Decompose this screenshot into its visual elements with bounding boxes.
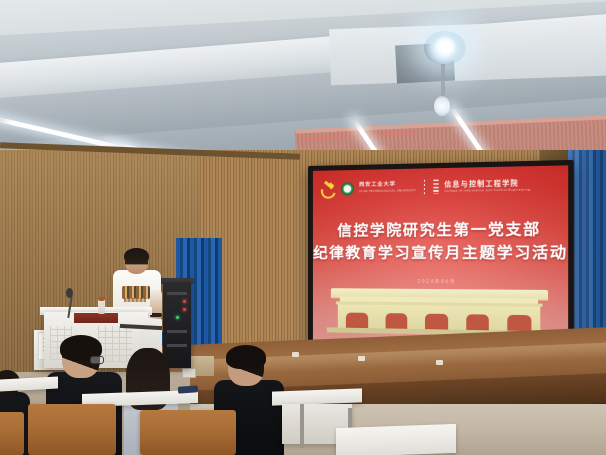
ceiling-panel-right bbox=[329, 19, 606, 85]
bottle-cap bbox=[99, 297, 104, 301]
stage-edge-light bbox=[292, 352, 299, 357]
university-name-en: XI'AN TECHNOLOGICAL UNIVERSITY bbox=[359, 189, 416, 193]
tshirt-graphic-sub bbox=[124, 298, 146, 302]
header-divider bbox=[424, 180, 425, 194]
college-name-en: College of Information and Control Engin… bbox=[444, 188, 530, 192]
college-name: 信息与控制工程学院 College of Information and Con… bbox=[444, 179, 530, 192]
water-bottle bbox=[98, 300, 105, 314]
smartphone bbox=[178, 385, 198, 393]
chair-far-left bbox=[0, 412, 24, 455]
wall-socket bbox=[182, 368, 196, 378]
microphone-icon bbox=[66, 288, 73, 298]
university-name: 西安工业大学 XI'AN TECHNOLOGICAL UNIVERSITY bbox=[359, 182, 416, 192]
stage-edge-light bbox=[436, 360, 443, 365]
slide-header: 西安工业大学 XI'AN TECHNOLOGICAL UNIVERSITY 信息… bbox=[321, 172, 559, 201]
slide-title-line-1: 信控学院研究生第一党支部 bbox=[313, 221, 568, 241]
eyeglasses-icon bbox=[90, 356, 104, 364]
rack-status-led bbox=[183, 308, 186, 311]
lecture-hall-photo: 西安工业大学 XI'AN TECHNOLOGICAL UNIVERSITY 信息… bbox=[0, 0, 606, 455]
chair-center bbox=[140, 410, 236, 455]
slide-title: 信控学院研究生第一党支部 纪律教育学习宣传月主题学习活动 bbox=[313, 221, 568, 265]
attendee-black-shirt-hair bbox=[226, 345, 266, 369]
chair-left bbox=[28, 404, 116, 455]
stage-edge-light bbox=[358, 356, 365, 361]
header-divider-bars bbox=[434, 180, 439, 195]
desk-foreground bbox=[336, 424, 456, 455]
rack-power-led bbox=[183, 300, 186, 303]
presenter-hair bbox=[124, 248, 149, 264]
pendant-rod bbox=[441, 64, 445, 100]
rack-active-led bbox=[176, 316, 179, 319]
spotlight-core bbox=[435, 38, 455, 56]
presentation-screen: 西安工业大学 XI'AN TECHNOLOGICAL UNIVERSITY 信息… bbox=[308, 160, 574, 352]
slide-title-line-2: 纪律教育学习宣传月主题学习活动 bbox=[313, 244, 568, 264]
lectern-plate bbox=[74, 313, 118, 323]
desk-leg bbox=[300, 404, 304, 448]
slide-surface: 西安工业大学 XI'AN TECHNOLOGICAL UNIVERSITY 信息… bbox=[313, 165, 568, 345]
university-seal-icon bbox=[341, 182, 354, 195]
hammer-sickle-icon bbox=[321, 182, 336, 195]
tiananmen-building-icon bbox=[327, 288, 553, 337]
